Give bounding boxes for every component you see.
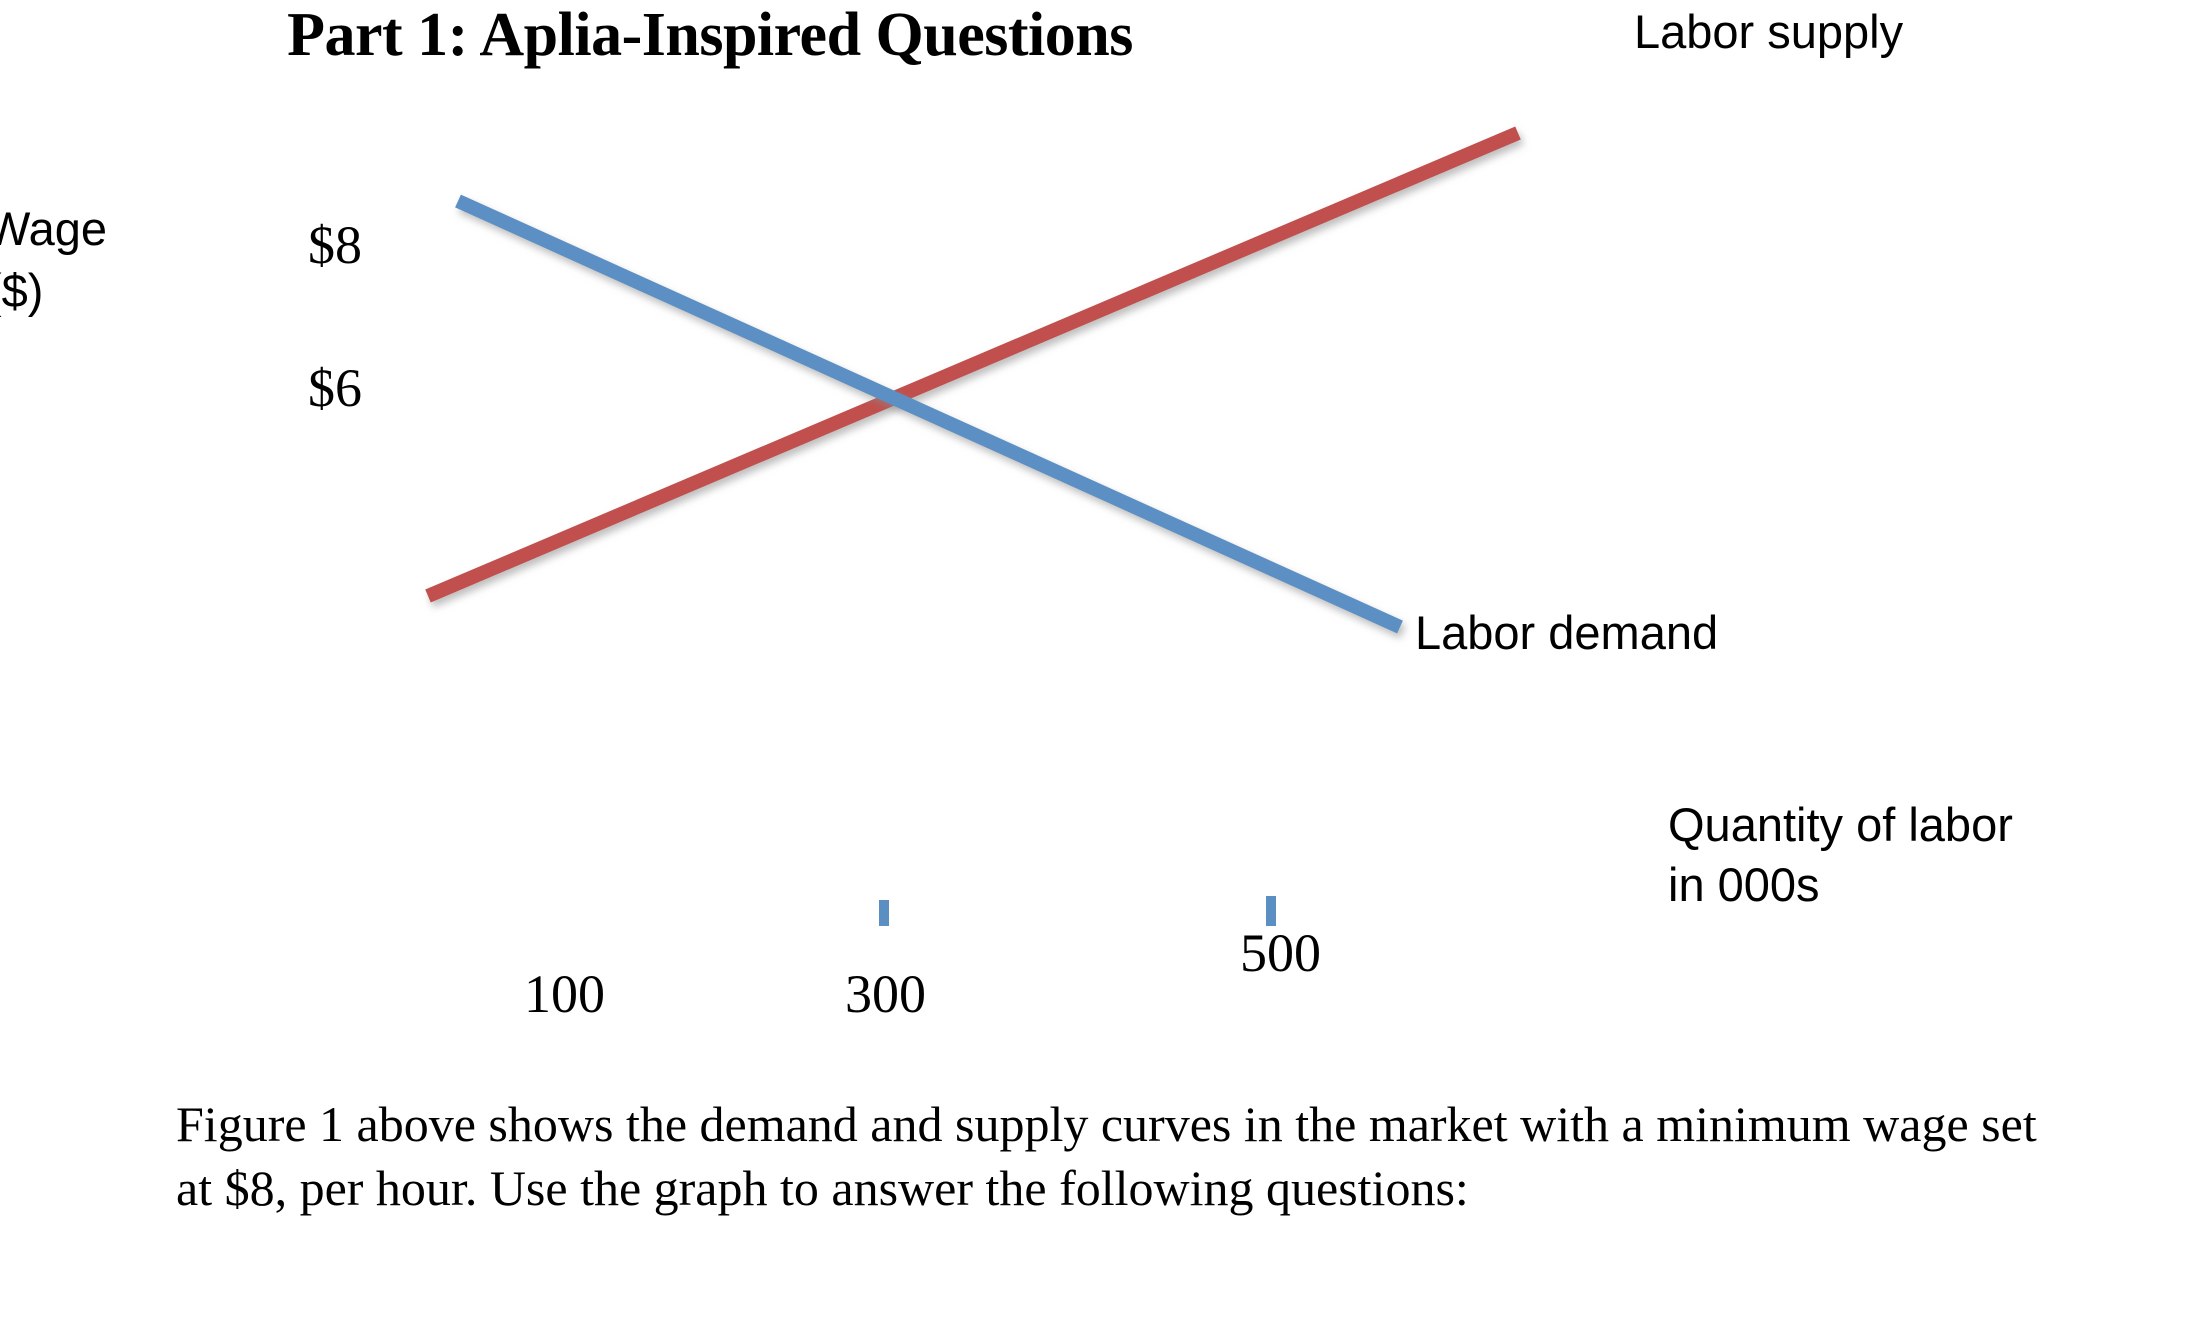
y-axis-title: Wage ($) xyxy=(0,198,107,322)
slide-canvas: Part 1: Aplia-Inspired Questions xyxy=(0,0,2190,1330)
x-axis-title-line1: Quantity of labor xyxy=(1668,795,2013,855)
page-title: Part 1: Aplia-Inspired Questions xyxy=(0,0,1420,70)
y-axis-title-line1: Wage xyxy=(0,198,107,260)
figure-caption: Figure 1 above shows the demand and supp… xyxy=(176,1092,2056,1220)
y-tick-label-6: $6 xyxy=(308,360,362,416)
y-axis-title-line2: ($) xyxy=(0,260,107,322)
y-tick-label-8: $8 xyxy=(308,217,362,273)
x-tick-label-100: 100 xyxy=(524,966,605,1022)
x-tick-label-500: 500 xyxy=(1240,925,1321,981)
labor-demand-curve xyxy=(458,201,1400,627)
x-axis-title: Quantity of labor in 000s xyxy=(1668,795,2013,915)
labor-supply-label: Labor supply xyxy=(1634,4,1903,60)
labor-supply-curve xyxy=(428,133,1518,596)
x-axis-title-line2: in 000s xyxy=(1668,855,2013,915)
x-tick-label-300: 300 xyxy=(845,966,926,1022)
labor-demand-label: Labor demand xyxy=(1415,605,1718,661)
